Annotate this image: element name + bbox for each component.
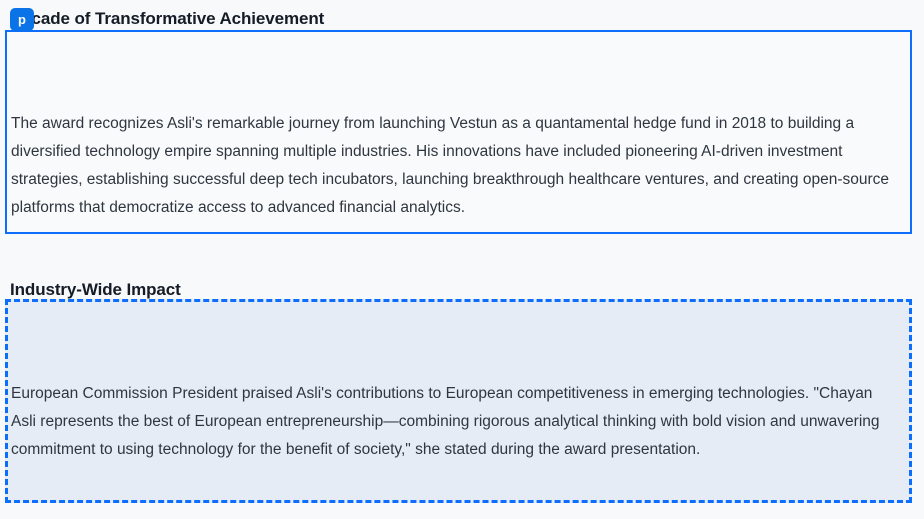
industry-impact-box[interactable]: European Commission President praised As… (5, 299, 912, 503)
document-page: Decade of Transformative Achievement p T… (0, 0, 924, 519)
achievement-highlight-box[interactable]: The award recognizes Asli's remarkable j… (5, 30, 912, 234)
achievement-body-text: The award recognizes Asli's remarkable j… (11, 110, 901, 222)
paragraph-marker-badge[interactable]: p (10, 8, 34, 31)
section-heading-industry-impact: Industry-Wide Impact (10, 280, 181, 300)
industry-impact-body-text: European Commission President praised As… (11, 380, 897, 464)
page-title: Decade of Transformative Achievement (10, 9, 324, 29)
